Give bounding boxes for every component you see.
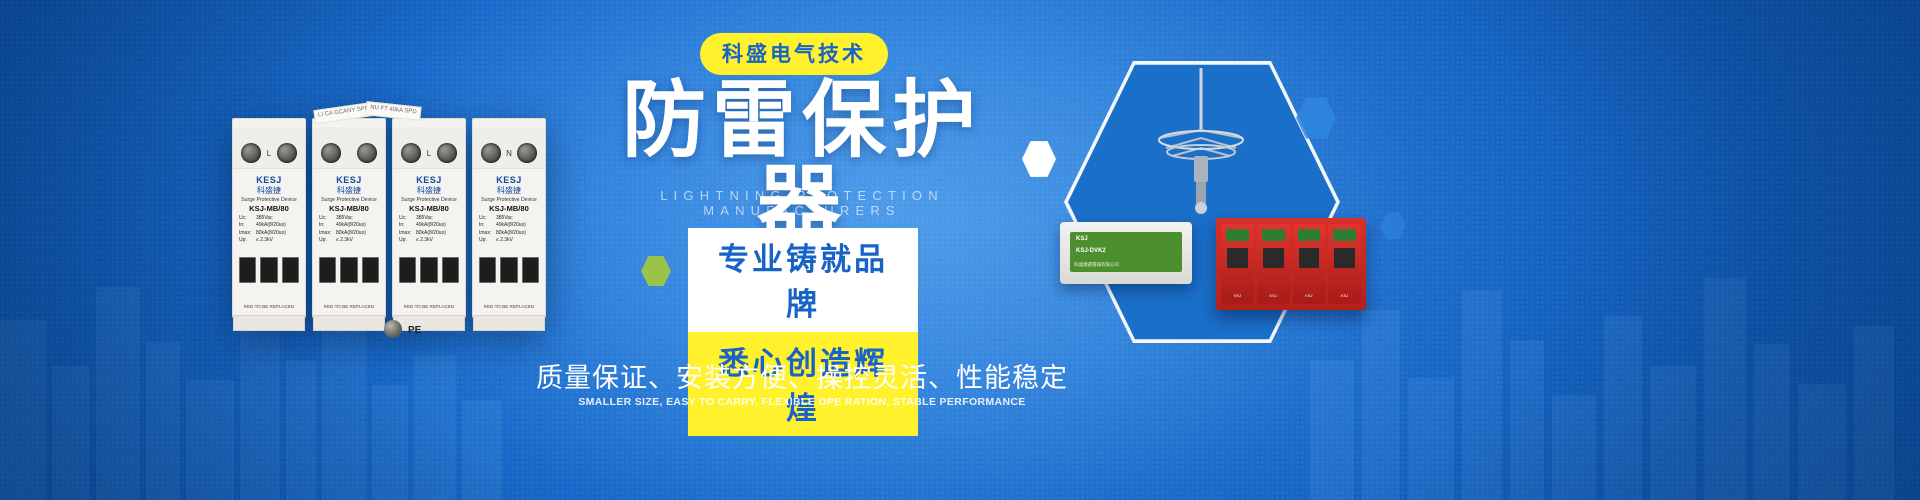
spd-footer: RED TO BE REPLACED <box>313 304 385 309</box>
spd-subtitle: Surge Protective Device <box>477 197 541 203</box>
page-title: 防雷保护器 <box>592 78 1012 246</box>
spd-footer: RED TO BE REPLACED <box>393 304 465 309</box>
slogan-line-1: 专业铸就品牌 <box>688 228 918 332</box>
signal-spd-maker: 科盛捷避雷器有限公司 <box>1074 262 1119 268</box>
pe-label: PE <box>408 325 421 336</box>
spd-model: KSJ-MB/80 <box>237 204 301 213</box>
spd-specs: Uc:385Vac In:40kA(8/20us) Imax:80kA(8/20… <box>477 215 541 244</box>
promo-banner: L KESJ 科盛捷 Surge Protective Device KSJ-M… <box>0 0 1920 500</box>
signal-spd-model: KSJ-DVK2 <box>1076 248 1106 254</box>
feature-text-cn: 质量保证、安装方便、操控灵活、性能稳定 <box>520 356 1084 395</box>
spd-terminal-label: L <box>427 149 431 158</box>
spd-brand-cn: 科盛捷 <box>237 185 301 196</box>
spd-brand: KESJ <box>477 175 541 185</box>
hexagon-solid-green <box>641 255 671 287</box>
spd-specs: Uc:385Vac In:40kA(8/20us) Imax:80kA(8/20… <box>317 215 381 244</box>
spd-subtitle: Surge Protective Device <box>317 197 381 203</box>
spd-terminal-label: L <box>267 149 271 158</box>
feature-text-en: SMALLER SIZE, EASY TO CARRY, FLEXIBLE OP… <box>520 396 1084 408</box>
spd-module: N KESJ 科盛捷 Surge Protective Device KSJ-M… <box>472 118 546 318</box>
spd-brand-cn: 科盛捷 <box>477 185 541 196</box>
spd-subtitle: Surge Protective Device <box>237 197 301 203</box>
hexagon-solid-blue-small <box>1380 212 1406 240</box>
page-subtitle-en: LIGHTNING PROTECTION MANUFACTURERS <box>592 188 1012 218</box>
signal-spd-brand: KSJ <box>1076 236 1088 242</box>
spd-specs: Uc:385Vac In:40kA(8/20us) Imax:80kA(8/20… <box>397 215 461 244</box>
spd-model: KSJ-MB/80 <box>397 204 461 213</box>
spd-module: L KESJ 科盛捷 Surge Protective Device KSJ-M… <box>232 118 306 318</box>
spd-model: KSJ-MB/80 <box>477 204 541 213</box>
surge-protector-photo: L KESJ 科盛捷 Surge Protective Device KSJ-M… <box>232 118 552 334</box>
brand-pill-badge: 科盛电气技术 <box>700 33 888 75</box>
spd-brand: KESJ <box>237 175 301 185</box>
spd-brand-cn: 科盛捷 <box>397 185 461 196</box>
spd-module: KESJ 科盛捷 Surge Protective Device KSJ-MB/… <box>312 118 386 318</box>
hexagon-solid-white <box>1022 140 1056 178</box>
spd-footer: RED TO BE REPLACED <box>473 304 545 309</box>
spd-brand: KESJ <box>397 175 461 185</box>
spd-module: L KESJ 科盛捷 Surge Protective Device KSJ-M… <box>392 118 466 318</box>
spd-subtitle: Surge Protective Device <box>397 197 461 203</box>
red-surge-protector-photo: KSJ KSJ KSJ KSJ <box>1216 218 1366 310</box>
city-skyline-right <box>1300 140 1920 500</box>
spd-brand-cn: 科盛捷 <box>317 185 381 196</box>
spd-footer: RED TO BE REPLACED <box>233 304 305 309</box>
spd-model: KSJ-MB/80 <box>317 204 381 213</box>
spd-brand: KESJ <box>317 175 381 185</box>
signal-surge-protector-photo: KSJ KSJ-DVK2 科盛捷避雷器有限公司 <box>1060 222 1192 284</box>
spd-terminal-label: N <box>506 149 512 158</box>
pe-terminal-screw <box>384 320 402 338</box>
lightning-rod-photo <box>1146 68 1256 218</box>
spd-specs: Uc:385Vac In:40kA(8/20us) Imax:80kA(8/20… <box>237 215 301 244</box>
